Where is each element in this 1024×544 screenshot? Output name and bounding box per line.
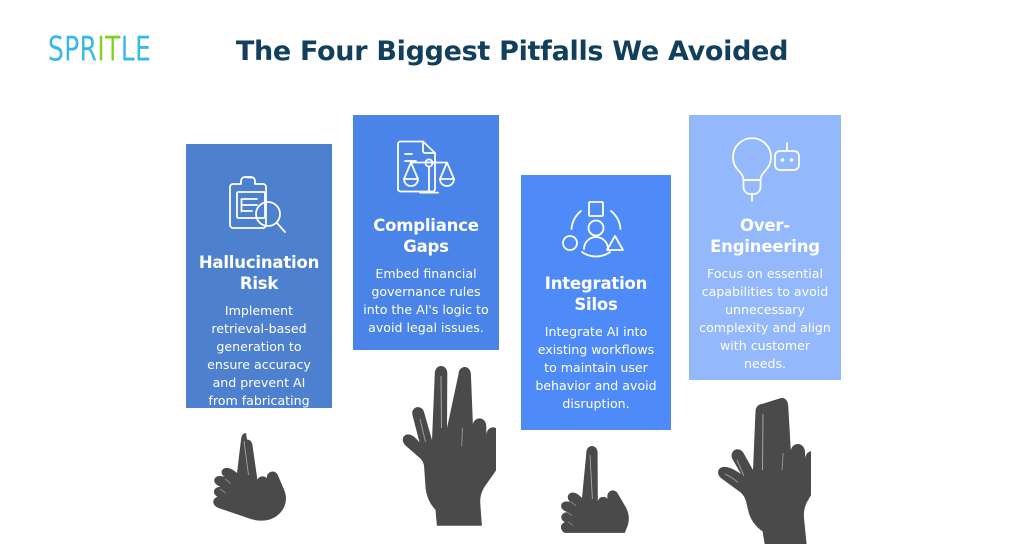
pointing-hand-2 — [398, 362, 496, 538]
pointing-hand-1 — [196, 425, 308, 538]
card-title: Hallucination Risk — [196, 252, 322, 294]
card-body: Focus on essential capabilities to avoid… — [699, 265, 831, 372]
pitfall-card-integration-silos[interactable]: Integration Silos Integrate AI into exis… — [521, 175, 671, 430]
pitfall-card-compliance-gaps[interactable]: Compliance Gaps Embed financial governan… — [353, 115, 499, 350]
card-title: Integration Silos — [531, 273, 661, 315]
document-scales-icon — [389, 137, 463, 203]
pointing-hand-3 — [554, 440, 642, 538]
card-body: Integrate AI into existing workflows to … — [531, 323, 661, 412]
person-shapes-network-icon — [561, 199, 631, 261]
card-body: Implement retrieval-based generation to … — [196, 302, 322, 427]
slide-canvas: SPRITLE The Four Biggest Pitfalls We Avo… — [0, 0, 1024, 538]
pointing-hand-4 — [707, 398, 811, 544]
lightbulb-robot-icon — [727, 137, 803, 203]
pitfall-card-hallucination-risk[interactable]: Hallucination Risk Implement retrieval-b… — [186, 144, 332, 408]
card-title: Over-Engineering — [699, 215, 831, 257]
clipboard-magnifier-icon — [223, 172, 295, 240]
card-body: Embed financial governance rules into th… — [363, 265, 489, 337]
pitfall-card-over-engineering[interactable]: Over-Engineering Focus on essential capa… — [689, 115, 841, 380]
card-title: Compliance Gaps — [363, 215, 489, 257]
page-title: The Four Biggest Pitfalls We Avoided — [0, 36, 1024, 67]
